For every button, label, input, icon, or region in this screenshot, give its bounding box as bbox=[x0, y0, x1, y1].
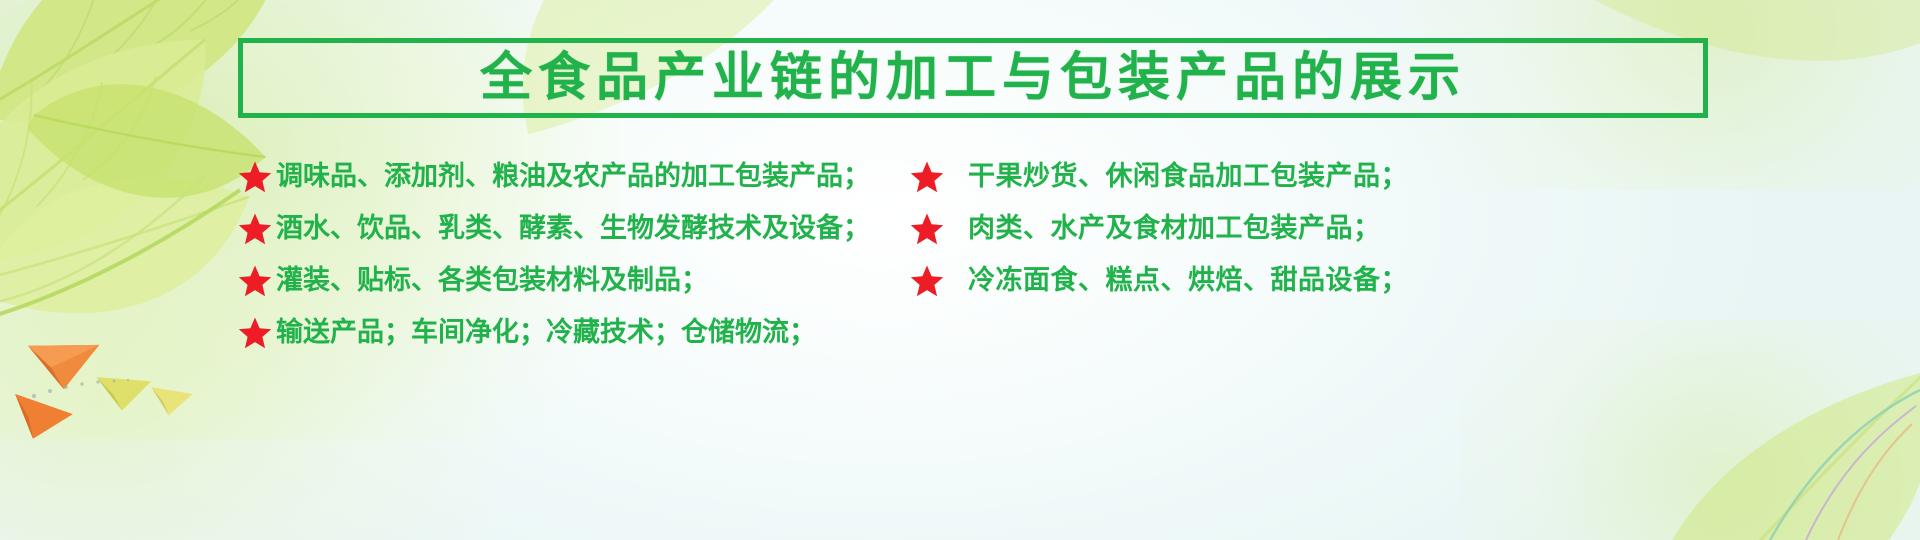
title-box: 全食品产业链的加工与包装产品的展示 bbox=[238, 38, 1708, 118]
list-item: 肉类、水产及食材加工包装产品； bbox=[910, 202, 1610, 254]
paper-plane-icon bbox=[149, 381, 197, 419]
feature-lists: 调味品、添加剂、粮油及农产品的加工包装产品； 酒水、饮品、乳类、酵素、生物发酵技… bbox=[238, 150, 1718, 358]
feature-list-left: 调味品、添加剂、粮油及农产品的加工包装产品； 酒水、饮品、乳类、酵素、生物发酵技… bbox=[238, 150, 910, 358]
list-item-label: 酒水、饮品、乳类、酵素、生物发酵技术及设备； bbox=[276, 215, 870, 242]
feature-list-right: 干果炒货、休闲食品加工包装产品； 肉类、水产及食材加工包装产品； 冷冻面食、糕点… bbox=[910, 150, 1610, 358]
list-item: 冷冻面食、糕点、烘焙、甜品设备； bbox=[910, 254, 1610, 306]
page-title: 全食品产业链的加工与包装产品的展示 bbox=[480, 52, 1466, 104]
dotted-trail-icon bbox=[28, 370, 148, 406]
list-item: 干果炒货、休闲食品加工包装产品； bbox=[910, 150, 1610, 202]
list-item: 酒水、饮品、乳类、酵素、生物发酵技术及设备； bbox=[238, 202, 910, 254]
star-icon bbox=[238, 160, 272, 194]
list-item-label: 冷冻面食、糕点、烘焙、甜品设备； bbox=[968, 267, 1408, 294]
star-icon bbox=[238, 264, 272, 298]
leaf-stem-icon bbox=[1620, 370, 1920, 540]
promo-banner: 全食品产业链的加工与包装产品的展示 调味品、添加剂、粮油及农产品的加工包装产品；… bbox=[0, 0, 1920, 540]
list-item: 调味品、添加剂、粮油及农产品的加工包装产品； bbox=[238, 150, 910, 202]
list-item-label: 干果炒货、休闲食品加工包装产品； bbox=[968, 163, 1408, 190]
list-item-label: 调味品、添加剂、粮油及农产品的加工包装产品； bbox=[276, 163, 870, 190]
star-icon bbox=[238, 212, 272, 246]
star-icon bbox=[910, 212, 944, 246]
list-item: 输送产品；车间净化；冷藏技术；仓储物流； bbox=[238, 306, 910, 358]
list-item-label: 灌装、贴标、各类包装材料及制品； bbox=[276, 267, 708, 294]
star-icon bbox=[910, 264, 944, 298]
star-icon bbox=[238, 316, 272, 350]
star-icon bbox=[910, 160, 944, 194]
list-item-label: 输送产品；车间净化；冷藏技术；仓储物流； bbox=[276, 319, 816, 346]
list-item: 灌装、贴标、各类包装材料及制品； bbox=[238, 254, 910, 306]
list-item-label: 肉类、水产及食材加工包装产品； bbox=[968, 215, 1381, 242]
